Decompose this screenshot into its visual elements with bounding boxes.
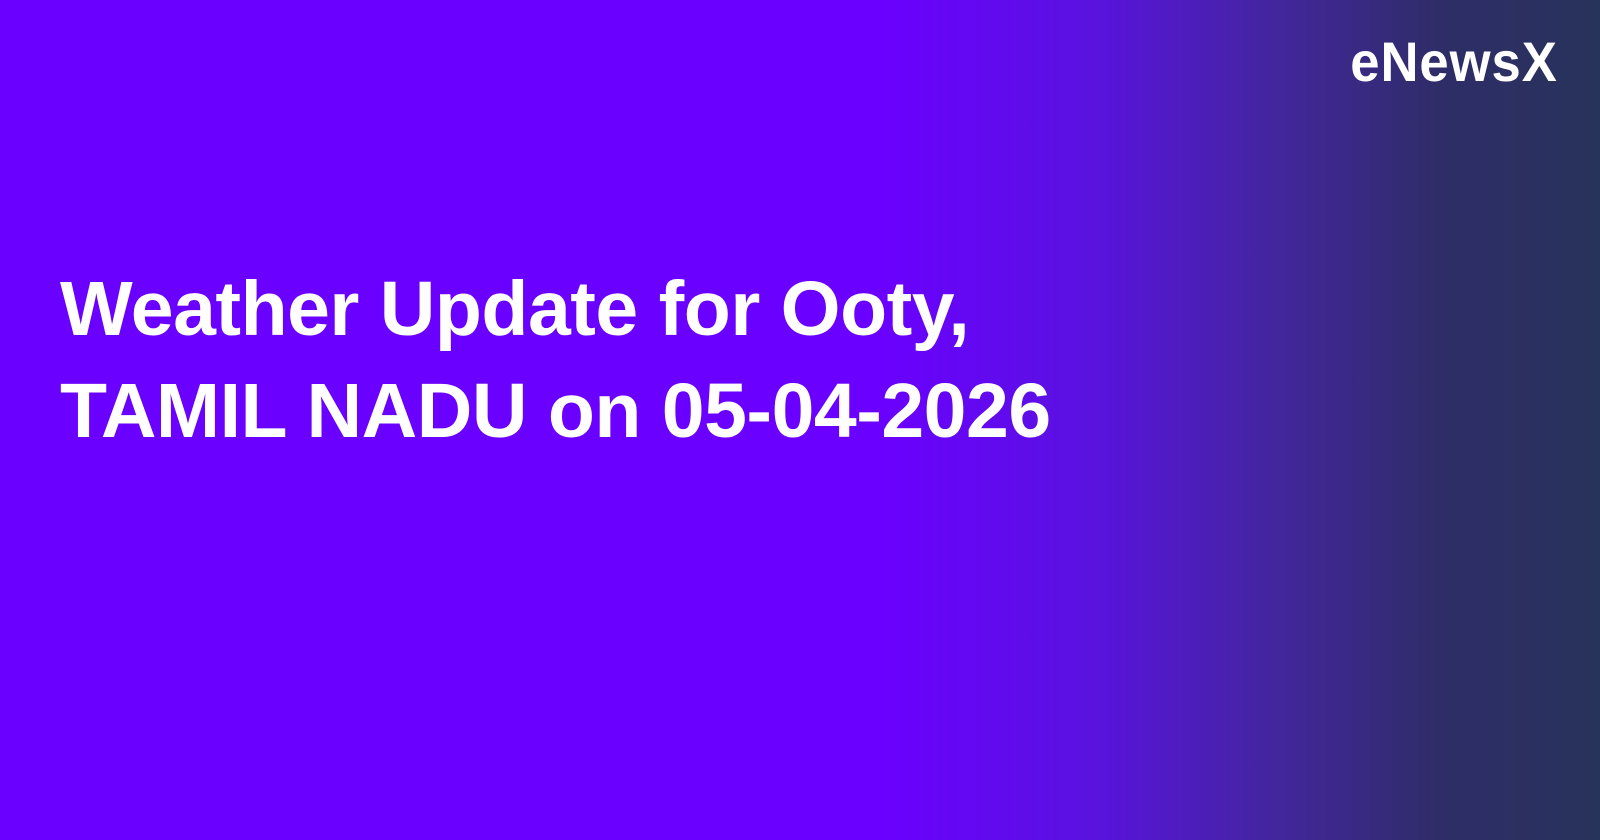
brand-logo[interactable]: eNewsX	[1350, 34, 1558, 90]
headline-title: Weather Update for Ooty, TAMIL NADU on 0…	[60, 258, 1460, 462]
news-banner: eNewsX Weather Update for Ooty, TAMIL NA…	[0, 0, 1600, 840]
